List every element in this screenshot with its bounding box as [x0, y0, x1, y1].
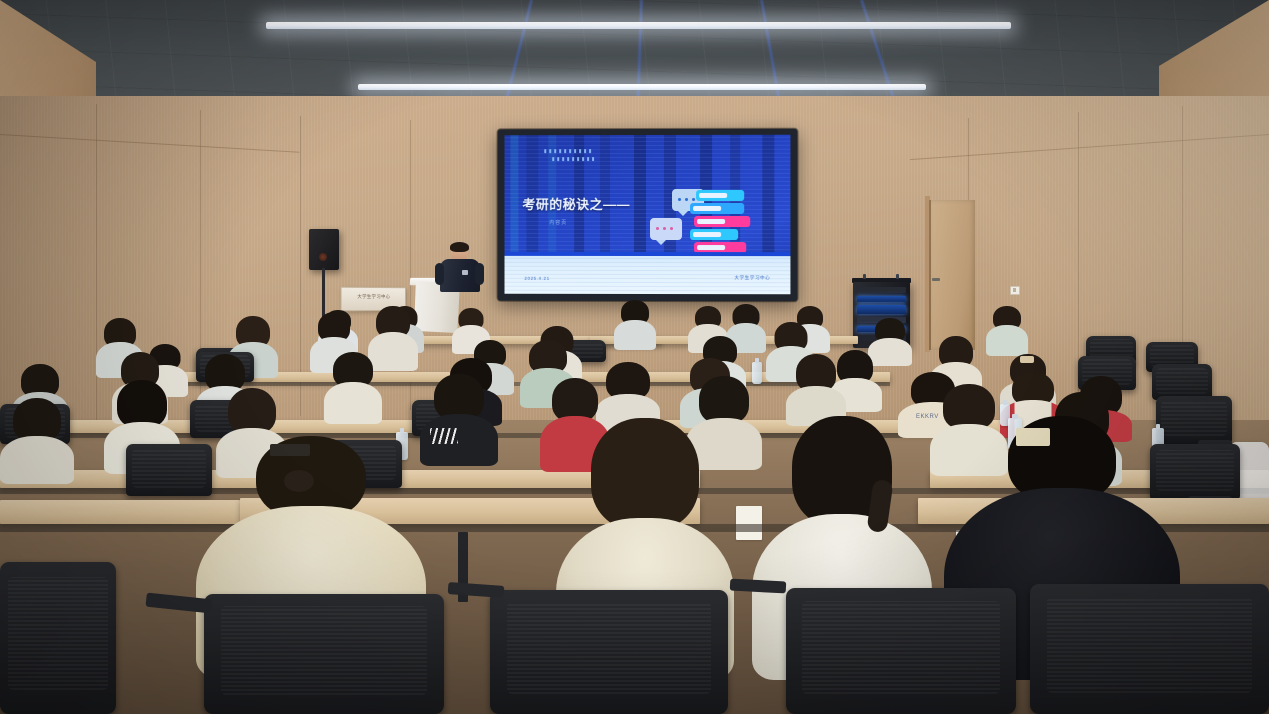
- projection-screen: 考研的秘诀之—— 内容页 2025.4.21: [498, 129, 798, 302]
- presentation-slide: 考研的秘诀之—— 内容页 2025.4.21: [505, 135, 791, 295]
- chair-front-2[interactable]: [204, 594, 444, 714]
- slide-subtitle: 内容页: [549, 219, 567, 226]
- torso: [986, 325, 1028, 356]
- slide-book-3: [694, 216, 750, 227]
- chair-r2-c[interactable]: [1152, 364, 1212, 400]
- rack-slot-3-lit: [857, 305, 906, 314]
- slide-book-1: [696, 190, 744, 201]
- speaker-cone-icon: [319, 253, 327, 261]
- torso: [614, 320, 656, 350]
- presenter-hair: [450, 242, 469, 252]
- student-r1-4: [614, 300, 656, 348]
- hair-clip: [270, 444, 310, 456]
- wall-sign-text: 大学生学习中心: [342, 294, 405, 300]
- av-rack-knob-right: [896, 274, 899, 279]
- slide-book-2: [690, 203, 744, 214]
- slide-caption-dots-1: [544, 149, 591, 153]
- adidas-stripes: [430, 428, 458, 444]
- ceiling-light-row-front: [266, 22, 1011, 29]
- student-r3-4: [324, 352, 382, 422]
- hair-bun: [284, 470, 314, 492]
- presenter-arm-right: [475, 263, 484, 285]
- slide-footer-right: 大学生学习中心: [734, 275, 770, 281]
- rack-slot-2-lit: [857, 296, 906, 302]
- lecture-hall-photo: 考研的秘诀之—— 内容页 2025.4.21: [0, 0, 1269, 714]
- door-handle-icon[interactable]: [932, 278, 940, 281]
- hair-clip: [1016, 428, 1050, 446]
- chair-front-4[interactable]: [786, 588, 1016, 714]
- hair: [699, 376, 749, 424]
- presenter-arm-left: [435, 263, 444, 285]
- hair-clip: [1020, 356, 1034, 363]
- av-rack-knob-left: [863, 274, 866, 279]
- wall-speaker: [309, 229, 339, 270]
- slide-footer-left: 2025.4.21: [524, 276, 549, 281]
- chat-bubble-lower: [650, 218, 682, 240]
- hair: [117, 380, 167, 428]
- presenter-torso: [440, 259, 480, 292]
- student-r3-9: [786, 354, 846, 424]
- chair-front-5[interactable]: [1030, 584, 1269, 714]
- rack-slot-1: [857, 287, 906, 293]
- ceiling-light-row-back: [358, 84, 926, 90]
- hair: [591, 418, 699, 530]
- chair-front-1[interactable]: [0, 562, 116, 714]
- desk-row-2-left: [150, 372, 450, 382]
- slide-caption-dots-2: [552, 157, 594, 161]
- torso: [0, 436, 74, 484]
- slide-footer-band: 2025.4.21 大学生学习中心: [505, 252, 791, 294]
- student-r4-4-adidas: [420, 374, 498, 464]
- side-door[interactable]: [929, 200, 975, 350]
- torso: [324, 382, 382, 424]
- slide-book-4: [690, 229, 738, 240]
- presenter-badge: [462, 270, 468, 275]
- student-r4-1: [0, 398, 74, 482]
- slide-title: 考研的秘诀之——: [522, 194, 630, 213]
- chair-front-3[interactable]: [490, 590, 728, 714]
- presenter: [438, 243, 480, 291]
- student-r1-9: [986, 306, 1028, 354]
- light-switch[interactable]: [1010, 286, 1020, 295]
